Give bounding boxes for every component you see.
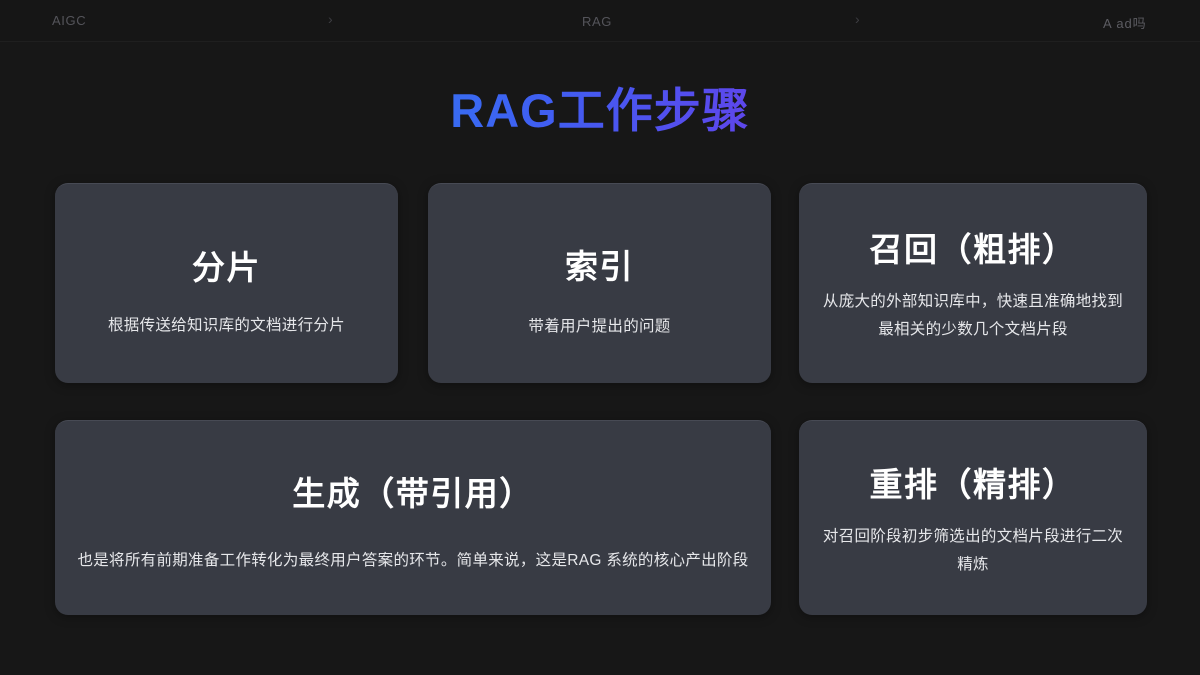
step-card-generation[interactable]: 生成（带引用） 也是将所有前期准备工作转化为最终用户答案的环节。简单来说，这是R… bbox=[55, 420, 771, 615]
step-card-description: 根据传送给知识库的文档进行分片 bbox=[108, 312, 345, 340]
step-card-chunking[interactable]: 分片 根据传送给知识库的文档进行分片 bbox=[55, 183, 398, 383]
step-card-description: 也是将所有前期准备工作转化为最终用户答案的环节。简单来说，这是RAG 系统的核心… bbox=[77, 546, 748, 576]
step-card-title: 召回（粗排） bbox=[870, 228, 1077, 272]
chevron-right-icon: › bbox=[855, 11, 860, 27]
breadcrumb-item-rag[interactable]: RAG bbox=[582, 14, 612, 29]
step-card-title: 索引 bbox=[565, 245, 634, 289]
step-card-title: 重排（精排） bbox=[870, 463, 1077, 507]
step-card-description: 带着用户提出的问题 bbox=[528, 313, 670, 341]
step-card-title: 生成（带引用） bbox=[292, 472, 534, 516]
breadcrumb-bar: AIGC › RAG › A ad吗 bbox=[0, 0, 1200, 42]
breadcrumb-item-trailing[interactable]: A ad吗 bbox=[1103, 13, 1147, 32]
step-card-indexing[interactable]: 索引 带着用户提出的问题 bbox=[428, 183, 771, 383]
step-card-recall[interactable]: 召回（粗排） 从庞大的外部知识库中，快速且准确地找到最相关的少数几个文档片段 bbox=[799, 183, 1147, 383]
step-card-title: 分片 bbox=[192, 246, 261, 290]
step-card-description: 对召回阶段初步筛选出的文档片段进行二次精炼 bbox=[819, 523, 1127, 579]
step-card-description: 从庞大的外部知识库中，快速且准确地找到最相关的少数几个文档片段 bbox=[819, 288, 1127, 344]
page-title: RAG工作步骤 bbox=[0, 82, 1200, 140]
breadcrumb-item-aigc[interactable]: AIGC bbox=[52, 13, 86, 28]
step-card-rerank[interactable]: 重排（精排） 对召回阶段初步筛选出的文档片段进行二次精炼 bbox=[799, 420, 1147, 615]
chevron-right-icon: › bbox=[328, 11, 333, 27]
